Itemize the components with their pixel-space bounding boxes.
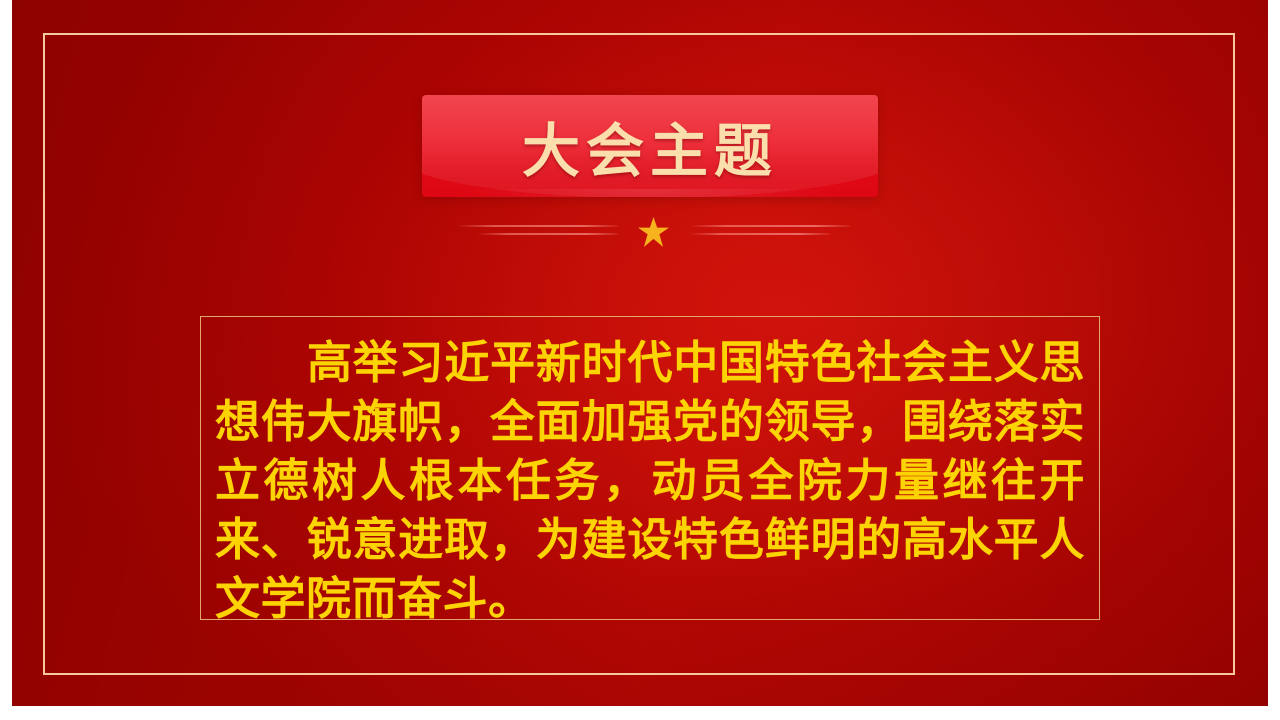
- section-title-banner: 大会主题: [422, 95, 878, 197]
- theme-paragraph: 高举习近平新时代中国特色社会主义思想伟大旗帜，全面加强党的领导，围绕落实立德树人…: [215, 333, 1085, 628]
- section-title-text: 大会主题: [422, 95, 878, 197]
- presentation-slide: 大会主题 高举习近平新时代中国特色社会主义思想伟大旗帜，全面加强党的领导，围绕落…: [0, 0, 1280, 720]
- theme-content-box: 高举习近平新时代中国特色社会主义思想伟大旗帜，全面加强党的领导，围绕落实立德树人…: [200, 316, 1100, 620]
